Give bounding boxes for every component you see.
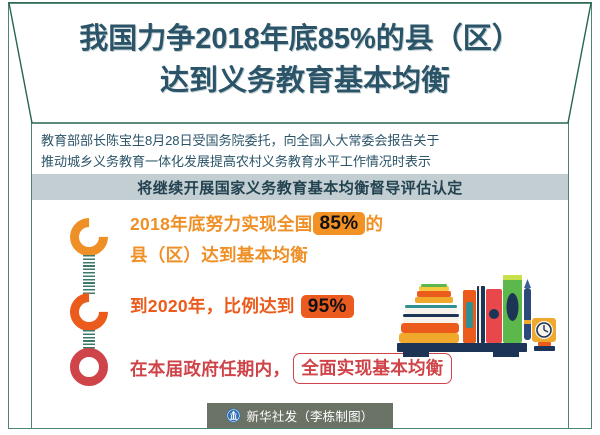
infographic-page: 我国力争2018年底85%的县（区） 达到义务教育基本均衡 教育部部长陈宝生8月… (0, 0, 600, 435)
xinhua-logo-icon (226, 408, 241, 423)
title-line-1: 我国力争2018年底85%的县（区） (8, 18, 592, 60)
row-1-line-1: 2018年底努力实现全国85%的 (130, 209, 560, 240)
footer-credit-bar: 新华社发（李栋制图） (207, 403, 393, 428)
page-title: 我国力争2018年底85%的县（区） 达到义务教育基本均衡 (8, 18, 592, 102)
row-2-text-before: 到2020年，比例达到 (130, 291, 295, 321)
lead-paragraph: 教育部部长陈宝生8月28日受国务院委托，向全国人大常委会报告关于 推动城乡义务教… (41, 130, 559, 172)
title-banner: 我国力争2018年底85%的县（区） 达到义务教育基本均衡 (8, 2, 592, 124)
books-illustration-svg (393, 262, 558, 367)
row-1-text-before: 2018年底努力实现全国 (130, 214, 313, 234)
timeline-marker-3-o-ring-icon (70, 348, 108, 386)
row-1-text-after: 的 (365, 214, 383, 234)
timeline-connector-2 (83, 330, 95, 350)
title-line-2: 达到义务教育基本均衡 (8, 60, 592, 102)
lead-line-1: 教育部部长陈宝生8月28日受国务院委托，向全国人大常委会报告关于 (41, 130, 559, 151)
timeline-connector-1 (83, 255, 95, 295)
lead-line-2: 推动城乡义务教育一体化发展提高农村义务教育水平工作情况时表示 (41, 151, 559, 172)
row-1-badge-85: 85% (313, 212, 366, 235)
row-2-badge-95: 95% (301, 295, 354, 318)
footer-credit-text: 新华社发（李栋制图） (246, 406, 373, 425)
row-3-text-before: 在本届政府任期内， (130, 354, 290, 384)
highlight-banner: 将继续开展国家义务教育基本均衡督导评估认定 (32, 174, 568, 200)
books-on-shelf-with-clock-illustration (393, 262, 558, 367)
